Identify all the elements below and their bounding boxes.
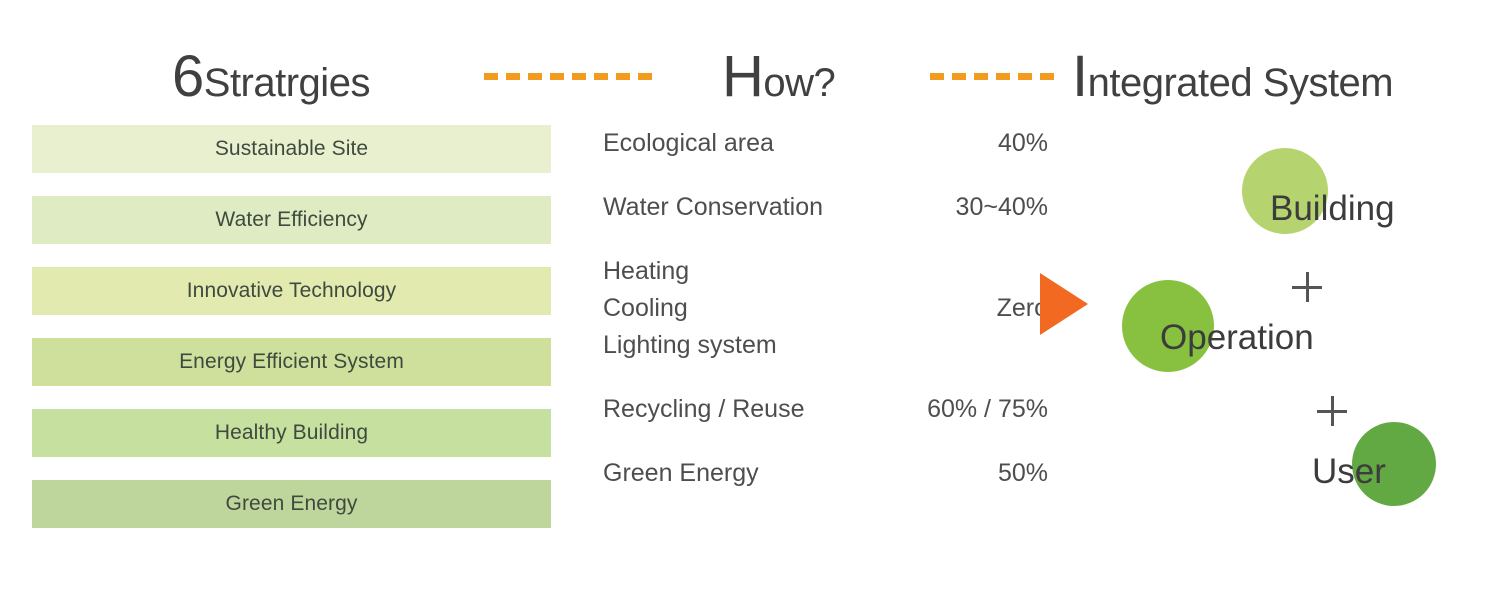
strategies-word: Stratrgies bbox=[204, 61, 370, 105]
dashed-connector-left bbox=[484, 73, 652, 80]
user-label: User bbox=[1312, 454, 1386, 489]
plus-icon bbox=[1317, 396, 1347, 426]
measure-row: HeatingCoolingLighting systemZero bbox=[603, 253, 1048, 364]
measure-name: Lighting system bbox=[603, 327, 777, 364]
measure-value: 30~40% bbox=[956, 189, 1048, 226]
strategy-bar: Innovative Technology bbox=[32, 267, 551, 315]
integrated-rest: ntegrated System bbox=[1088, 61, 1394, 105]
page-title-strategies: 6Stratrgies bbox=[172, 48, 370, 106]
strategy-bar-label: Sustainable Site bbox=[215, 137, 368, 161]
measure-name-group: Recycling / Reuse bbox=[603, 391, 804, 428]
measure-name-group: HeatingCoolingLighting system bbox=[603, 253, 777, 364]
page-title-integrated-system: Integrated System bbox=[1072, 48, 1393, 106]
page-title-how: How? bbox=[722, 48, 835, 106]
measure-row: Recycling / Reuse60% / 75% bbox=[603, 391, 1048, 428]
measure-name: Green Energy bbox=[603, 455, 759, 492]
integrated-system-diagram: Building Operation User bbox=[1080, 120, 1490, 540]
strategies-count: 6 bbox=[172, 44, 204, 109]
measure-name-group: Green Energy bbox=[603, 455, 759, 492]
measure-value: 40% bbox=[998, 125, 1048, 162]
strategy-bar: Water Efficiency bbox=[32, 196, 551, 244]
header-row: 6Stratrgies How? Integrated System bbox=[0, 34, 1506, 106]
strategy-bar-label: Healthy Building bbox=[215, 421, 368, 445]
measure-name-group: Ecological area bbox=[603, 125, 774, 162]
strategy-bar: Sustainable Site bbox=[32, 125, 551, 173]
measure-value: 60% / 75% bbox=[927, 391, 1048, 428]
strategy-bar: Healthy Building bbox=[32, 409, 551, 457]
strategy-bar-label: Green Energy bbox=[226, 492, 358, 516]
measure-value: 50% bbox=[998, 455, 1048, 492]
measure-name: Water Conservation bbox=[603, 189, 823, 226]
strategy-bar-label: Innovative Technology bbox=[187, 279, 397, 303]
strategy-bar: Green Energy bbox=[32, 480, 551, 528]
dashed-connector-right bbox=[930, 73, 1054, 80]
operation-label: Operation bbox=[1160, 320, 1314, 355]
strategy-bar-list: Sustainable SiteWater EfficiencyInnovati… bbox=[32, 125, 551, 551]
measure-row: Ecological area40% bbox=[603, 125, 1048, 162]
how-lead-letter: H bbox=[722, 44, 763, 109]
measure-name: Recycling / Reuse bbox=[603, 391, 804, 428]
measure-name-group: Water Conservation bbox=[603, 189, 823, 226]
measure-list: Ecological area40%Water Conservation30~4… bbox=[603, 125, 1048, 519]
strategy-bar-label: Energy Efficient System bbox=[179, 350, 404, 374]
strategy-bar: Energy Efficient System bbox=[32, 338, 551, 386]
building-label: Building bbox=[1270, 191, 1395, 226]
how-rest: ow? bbox=[763, 61, 835, 105]
measure-row: Green Energy50% bbox=[603, 455, 1048, 492]
measure-name: Ecological area bbox=[603, 125, 774, 162]
strategy-bar-label: Water Efficiency bbox=[215, 208, 367, 232]
plus-icon bbox=[1292, 272, 1322, 302]
measure-name: Cooling bbox=[603, 290, 777, 327]
measure-row: Water Conservation30~40% bbox=[603, 189, 1048, 226]
integrated-lead-letter: I bbox=[1072, 44, 1088, 109]
measure-name: Heating bbox=[603, 253, 777, 290]
